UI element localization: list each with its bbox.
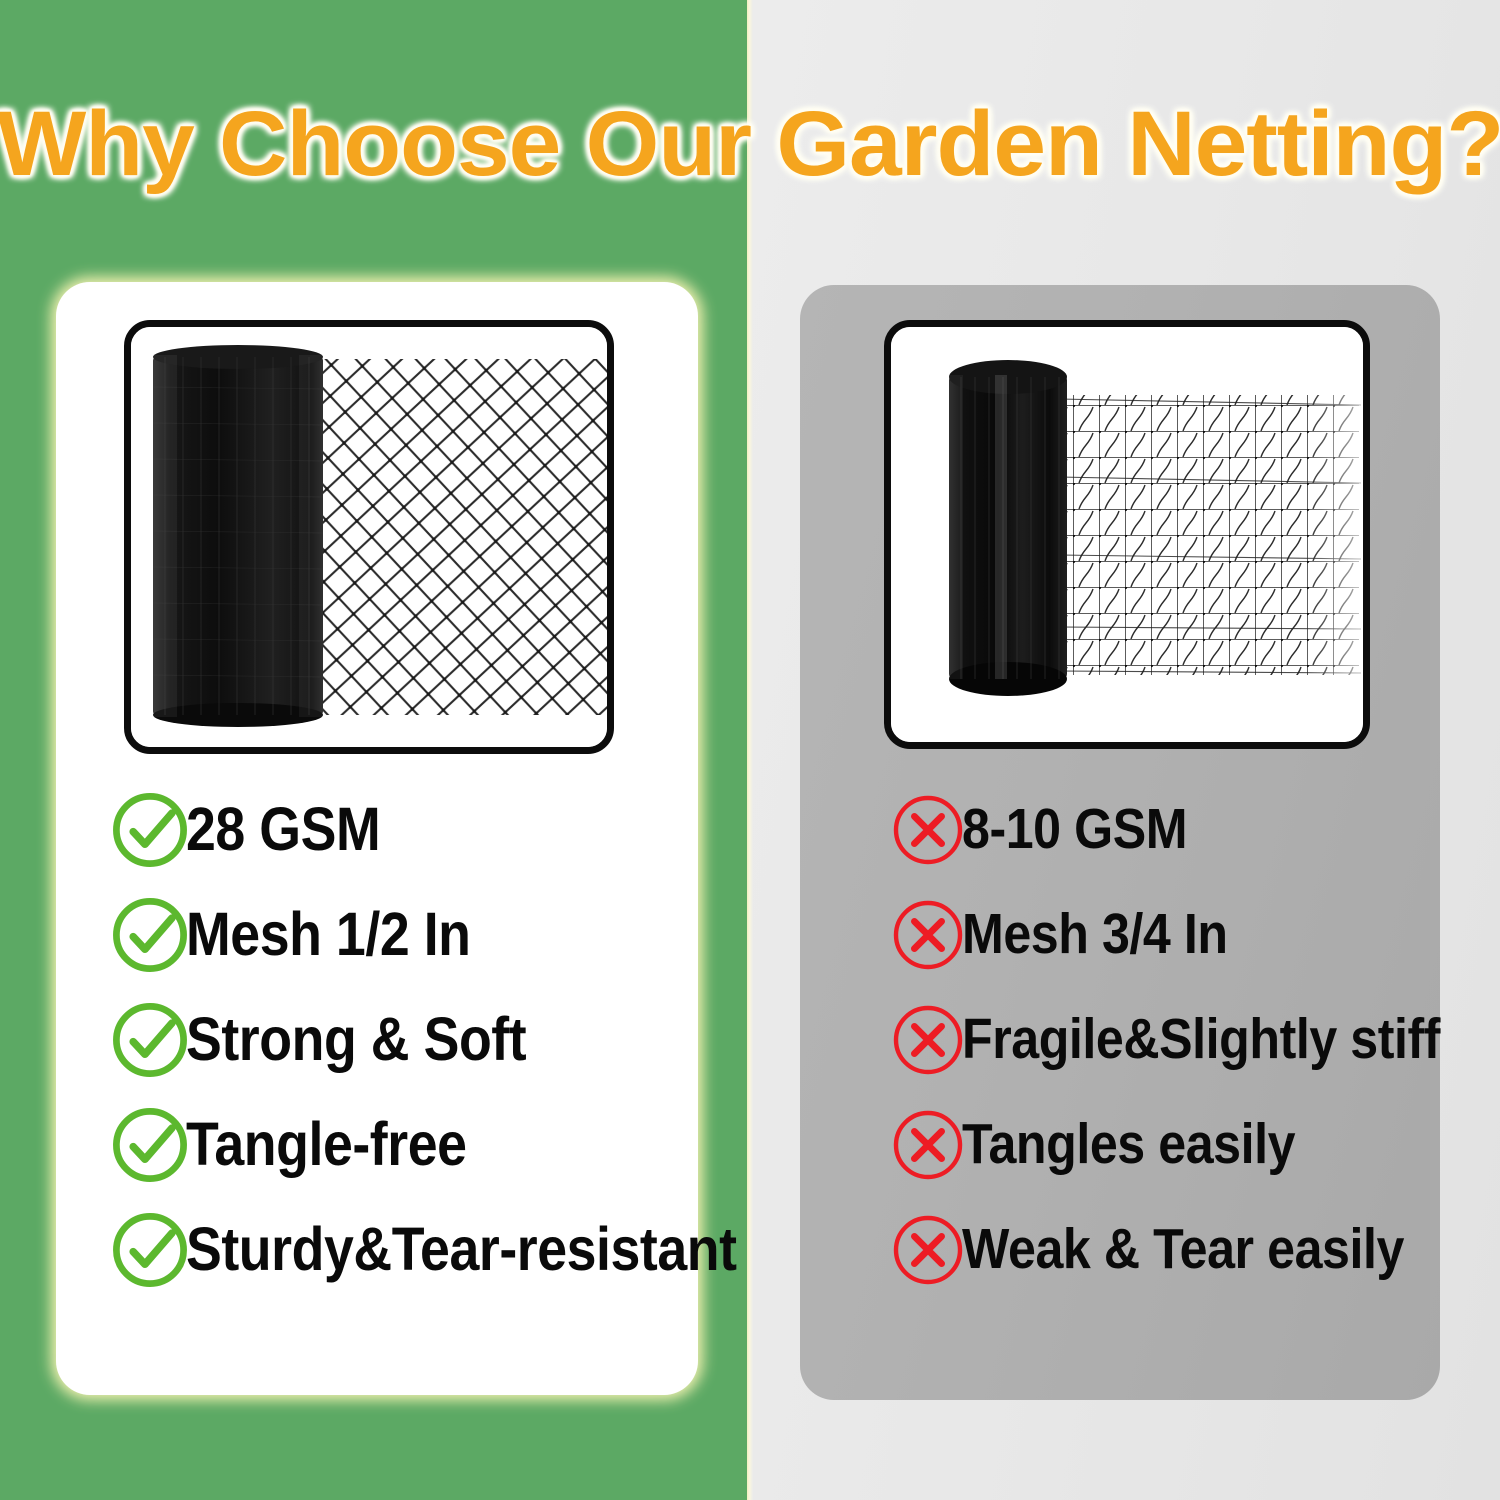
feature-label: Sturdy&Tear-resistant — [186, 1219, 737, 1280]
check-circle-icon — [108, 1208, 192, 1292]
list-item: Sturdy&Tear-resistant — [108, 1197, 728, 1302]
cross-circle-icon — [888, 895, 968, 975]
bad-feature-list: 8-10 GSM Mesh 3/4 In Fragile&Slightly st… — [888, 777, 1448, 1302]
list-item: Tangles easily — [888, 1092, 1448, 1197]
list-item: Tangle-free — [108, 1092, 728, 1197]
feature-label: Tangles easily — [962, 1116, 1295, 1173]
cross-circle-icon — [888, 1000, 968, 1080]
list-item: Strong & Soft — [108, 987, 728, 1092]
feature-label: Tangle-free — [186, 1114, 467, 1175]
feature-label: Weak & Tear easily — [962, 1221, 1404, 1278]
feature-label: 28 GSM — [186, 799, 380, 860]
panel-divider — [747, 0, 753, 1500]
feature-label: Strong & Soft — [186, 1009, 526, 1070]
garden-netting-roll-diamond-mesh-illustration — [131, 327, 607, 747]
list-item: Fragile&Slightly stiff — [888, 987, 1448, 1092]
good-feature-list: 28 GSM Mesh 1/2 In Strong & Soft — [108, 777, 728, 1302]
good-product-image-frame — [124, 320, 614, 754]
cross-circle-icon — [888, 1105, 968, 1185]
competitor-netting-roll-square-mesh-illustration — [891, 327, 1363, 742]
list-item: 28 GSM — [108, 777, 728, 882]
check-circle-icon — [108, 893, 192, 977]
check-circle-icon — [108, 1103, 192, 1187]
feature-label: Fragile&Slightly stiff — [962, 1011, 1440, 1068]
cross-circle-icon — [888, 790, 968, 870]
feature-label: 8-10 GSM — [962, 801, 1187, 858]
list-item: Mesh 1/2 In — [108, 882, 728, 987]
cross-circle-icon — [888, 1210, 968, 1290]
list-item: 8-10 GSM — [888, 777, 1448, 882]
comparison-infographic: Why Choose Our Garden Netting? — [0, 0, 1500, 1500]
list-item: Weak & Tear easily — [888, 1197, 1448, 1302]
check-circle-icon — [108, 788, 192, 872]
list-item: Mesh 3/4 In — [888, 882, 1448, 987]
page-title: Why Choose Our Garden Netting? — [0, 98, 1500, 190]
feature-label: Mesh 1/2 In — [186, 904, 471, 965]
bad-product-image-frame — [884, 320, 1370, 749]
check-circle-icon — [108, 998, 192, 1082]
feature-label: Mesh 3/4 In — [962, 906, 1228, 963]
